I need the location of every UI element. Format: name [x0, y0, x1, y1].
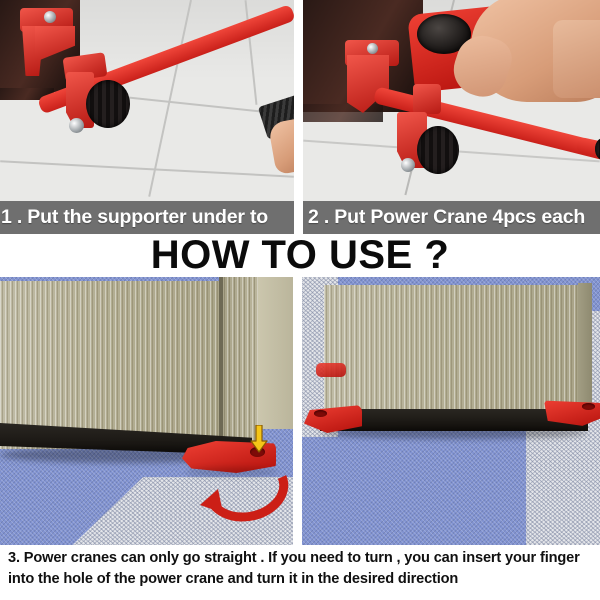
top-photo-row: 1 . Put the supporter under to 2 . Put P… [0, 0, 600, 234]
caption-text-step-2: 2 . Put Power Crane 4pcs each [308, 206, 585, 229]
caption-bar-step-2: 2 . Put Power Crane 4pcs each [303, 201, 600, 234]
how-to-use-infographic: 1 . Put the supporter under to 2 . Put P… [0, 0, 600, 600]
caption-text-step-1: 1 . Put the supporter under to [1, 206, 268, 229]
wheel-axle-bolt [401, 158, 415, 172]
hand-wrist [553, 20, 600, 98]
bracket-bolt [367, 43, 378, 54]
panel-divider-bottom [293, 277, 302, 545]
page-title-text: HOW TO USE ? [151, 233, 450, 278]
cabinet-edge-right [578, 283, 592, 409]
cabinet-door-gap [219, 277, 223, 453]
yellow-down-arrow-icon [250, 425, 268, 453]
roller-housing [413, 84, 441, 114]
page-title: HOW TO USE ? [0, 234, 600, 277]
photo-step-2 [303, 0, 600, 201]
bottom-instruction: 3. Power cranes can only go straight . I… [0, 548, 600, 600]
photo-step-4 [302, 277, 600, 545]
bottom-photo-row [0, 277, 600, 545]
crane-finger-hole-left [314, 410, 327, 417]
cabinet-front [324, 285, 580, 417]
power-crane-rear [316, 363, 346, 377]
cabinet-shadow [320, 427, 588, 439]
photo-step-3 [0, 277, 293, 545]
panel-divider-top [294, 0, 303, 201]
cabinet-body [0, 281, 232, 449]
wheel-axle-bolt [69, 118, 84, 133]
cabinet-right-edge [258, 277, 293, 429]
red-rotation-arrow-icon [190, 469, 293, 529]
caption-bar-step-1: 1 . Put the supporter under to [0, 201, 294, 234]
bottom-instruction-text: 3. Power cranes can only go straight . I… [8, 548, 592, 590]
roller-wheel [86, 80, 130, 128]
photo-step-1 [0, 0, 294, 201]
crane-finger-hole-right [582, 403, 595, 410]
bracket-bolt [44, 11, 56, 23]
furniture-shadow [303, 104, 383, 122]
roller-wheel [417, 126, 459, 174]
